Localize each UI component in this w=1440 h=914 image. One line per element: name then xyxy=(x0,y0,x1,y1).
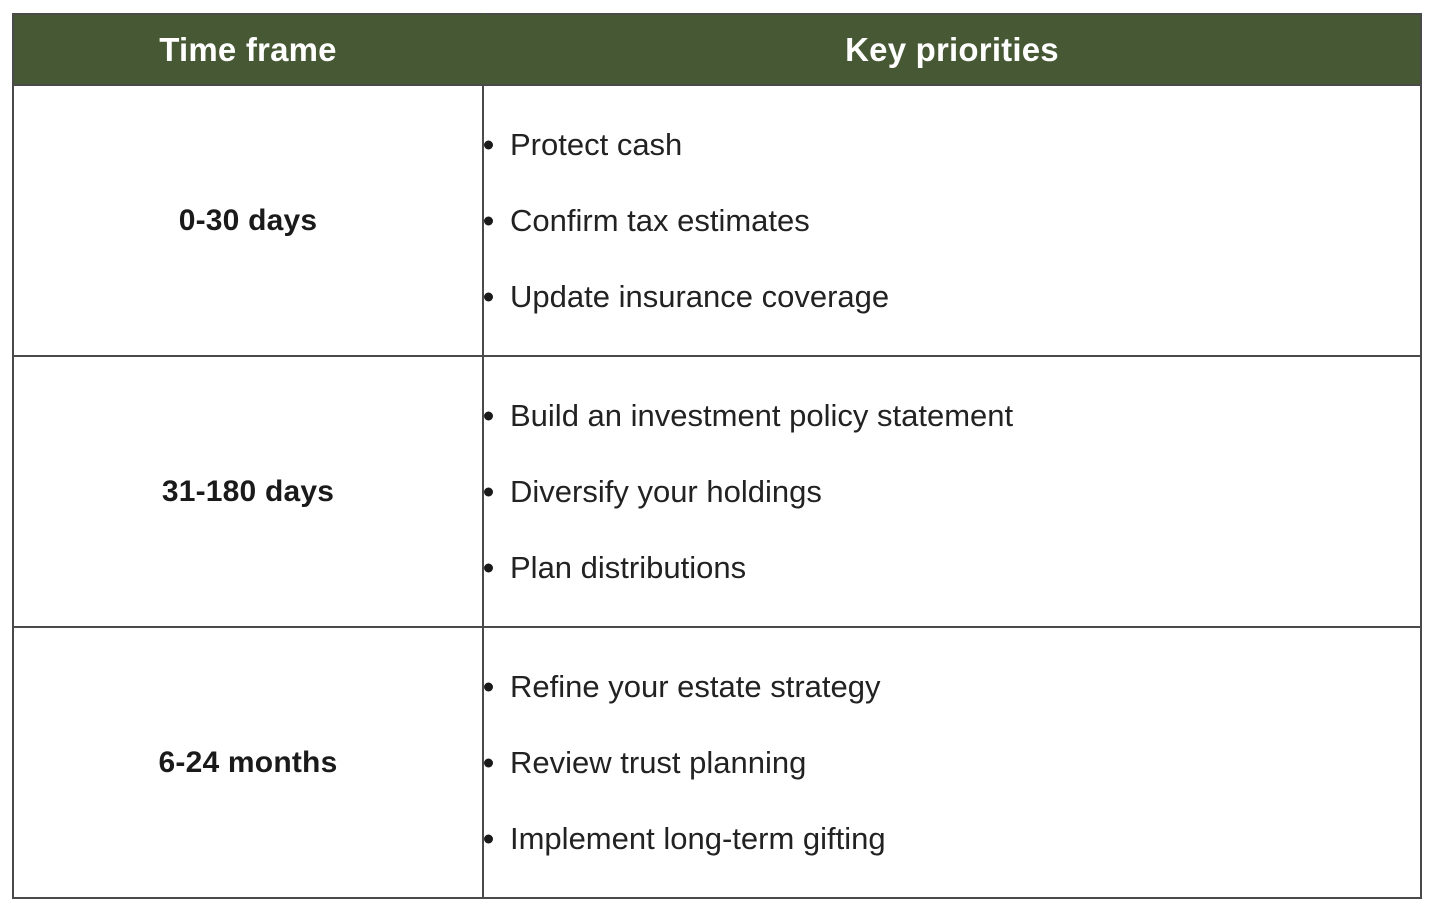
priorities-table: Time frame Key priorities 0-30 days Prot… xyxy=(12,13,1422,899)
list-item: Refine your estate strategy xyxy=(484,649,1420,725)
row-label-timeframe-1: 0-30 days xyxy=(13,85,483,356)
table-row: 31-180 days Build an investment policy s… xyxy=(13,356,1421,627)
row-label-timeframe-2: 31-180 days xyxy=(13,356,483,627)
priority-list-1: Protect cash Confirm tax estimates Updat… xyxy=(484,107,1420,335)
bullet-icon xyxy=(484,487,493,496)
row-label-timeframe-3: 6-24 months xyxy=(13,627,483,898)
list-item-label: Build an investment policy statement xyxy=(510,398,1013,433)
row-priorities-cell-3: Refine your estate strategy Review trust… xyxy=(483,627,1421,898)
table-row: 0-30 days Protect cash Confirm tax estim… xyxy=(13,85,1421,356)
column-header-key-priorities: Key priorities xyxy=(483,14,1421,85)
bullet-icon xyxy=(484,758,493,767)
bullet-icon xyxy=(484,834,493,843)
table-header: Time frame Key priorities xyxy=(13,14,1421,85)
list-item: Diversify your holdings xyxy=(484,454,1420,530)
bullet-icon xyxy=(484,216,493,225)
header-row: Time frame Key priorities xyxy=(13,14,1421,85)
bullet-icon xyxy=(484,682,493,691)
list-item: Build an investment policy statement xyxy=(484,378,1420,454)
list-item: Review trust planning xyxy=(484,725,1420,801)
list-item-label: Refine your estate strategy xyxy=(510,669,880,704)
list-item: Protect cash xyxy=(484,107,1420,183)
table-row: 6-24 months Refine your estate strategy … xyxy=(13,627,1421,898)
column-header-time-frame: Time frame xyxy=(13,14,483,85)
list-item-label: Review trust planning xyxy=(510,745,806,780)
list-item-label: Diversify your holdings xyxy=(510,474,822,509)
page-root: Time frame Key priorities 0-30 days Prot… xyxy=(0,0,1440,914)
priority-list-3: Refine your estate strategy Review trust… xyxy=(484,649,1420,877)
list-item-label: Plan distributions xyxy=(510,550,746,585)
list-item: Update insurance coverage xyxy=(484,259,1420,335)
bullet-icon xyxy=(484,411,493,420)
list-item: Implement long-term gifting xyxy=(484,801,1420,877)
list-item-label: Protect cash xyxy=(510,127,682,162)
list-item-label: Confirm tax estimates xyxy=(510,203,810,238)
list-item: Confirm tax estimates xyxy=(484,183,1420,259)
table-body: 0-30 days Protect cash Confirm tax estim… xyxy=(13,85,1421,898)
priority-list-2: Build an investment policy statement Div… xyxy=(484,378,1420,606)
bullet-icon xyxy=(484,292,493,301)
row-priorities-cell-2: Build an investment policy statement Div… xyxy=(483,356,1421,627)
row-priorities-cell-1: Protect cash Confirm tax estimates Updat… xyxy=(483,85,1421,356)
list-item: Plan distributions xyxy=(484,530,1420,606)
list-item-label: Update insurance coverage xyxy=(510,279,889,314)
bullet-icon xyxy=(484,563,493,572)
bullet-icon xyxy=(484,140,493,149)
list-item-label: Implement long-term gifting xyxy=(510,821,886,856)
